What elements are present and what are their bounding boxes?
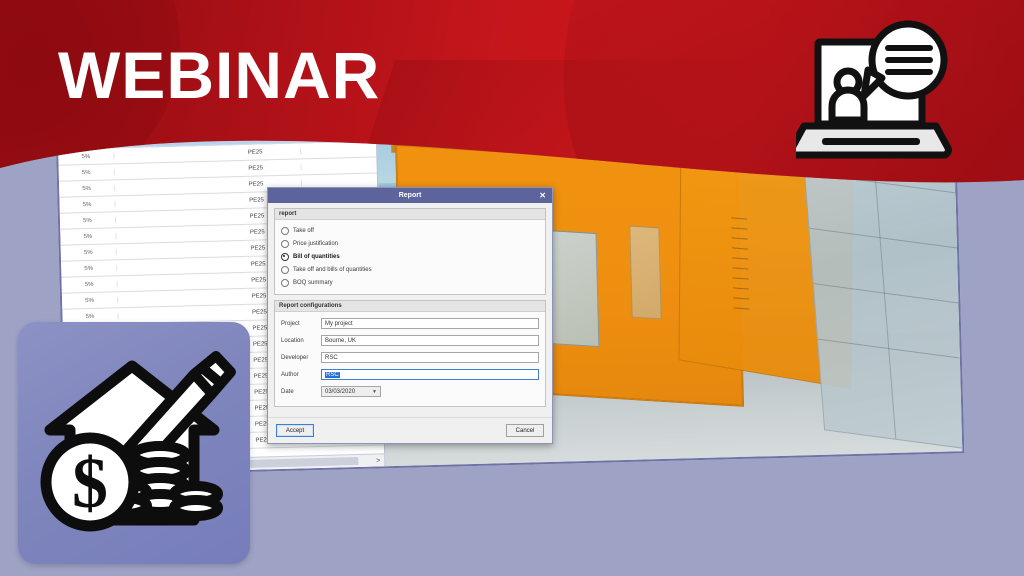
report-type-radio[interactable]: Bill of quantities (281, 250, 539, 263)
svg-text:$: $ (72, 443, 108, 523)
building-window (629, 226, 661, 320)
radio-label: Bill of quantities (293, 254, 340, 260)
dialog-title-text: Report (399, 192, 422, 199)
radio-icon[interactable] (281, 266, 289, 274)
cell-percent: 5% (59, 201, 115, 208)
cell-blank (302, 165, 377, 167)
cell-blank (116, 201, 212, 204)
laptop-presentation-icon (796, 16, 956, 164)
text-input-author[interactable]: RSC (321, 369, 539, 380)
radio-label: BOQ summary (293, 280, 333, 286)
field-label: Location (281, 338, 321, 344)
report-type-radio[interactable]: Take off and bills of quantities (281, 263, 539, 276)
report-dialog[interactable]: Report ✕ report Take offPrice justificat… (267, 187, 553, 444)
accept-button[interactable]: Accept (276, 424, 314, 437)
cancel-button[interactable]: Cancel (506, 424, 544, 437)
cell-percent: 5% (59, 185, 115, 192)
dialog-title-bar: Report ✕ (268, 188, 552, 203)
cell-percent: 5% (62, 297, 118, 304)
cell-blank (115, 185, 211, 188)
form-row: DeveloperRSC (281, 350, 539, 365)
cell-percent: 5% (59, 169, 115, 176)
cell-percent: 5% (60, 233, 116, 240)
cell-blank (301, 149, 376, 151)
cell-blank (118, 313, 214, 316)
building-ladder-detail (731, 211, 750, 322)
dialog-footer: Accept Cancel (268, 417, 552, 443)
cell-percent: 5% (60, 217, 116, 224)
form-row: LocationBourne, UK (281, 333, 539, 348)
cell-percent: 5% (61, 265, 117, 272)
cell-code: PE25 (210, 148, 301, 156)
cell-blank (302, 181, 377, 183)
report-type-group-header: report (275, 209, 545, 220)
report-type-radio[interactable]: Take off (281, 224, 539, 237)
report-type-group: report Take offPrice justificationBill o… (274, 208, 546, 295)
cell-blank (115, 169, 211, 172)
radio-icon[interactable] (281, 253, 289, 261)
cell-percent: 5% (62, 281, 118, 288)
field-label: Project (281, 321, 321, 327)
form-row: Date03/03/2020▼ (281, 384, 539, 399)
field-label: Author (281, 372, 321, 378)
text-input-project[interactable]: My project (321, 318, 539, 329)
cell-blank (116, 217, 212, 220)
report-configurations-group-header: Report configurations (275, 301, 545, 312)
cell-code: PE25 (211, 164, 302, 172)
house-pencil-money-icon: $ (18, 322, 250, 564)
page-title: WEBINAR (58, 40, 380, 110)
cell-blank (116, 233, 212, 236)
radio-icon[interactable] (281, 240, 289, 248)
cell-blank (118, 297, 214, 300)
scroll-right-arrow-icon[interactable]: > (376, 457, 380, 464)
field-label: Developer (281, 355, 321, 361)
form-row: ProjectMy project (281, 316, 539, 331)
radio-label: Price justification (293, 241, 338, 247)
date-value: 03/03/2020 (325, 389, 355, 395)
report-configurations-fields[interactable]: ProjectMy projectLocationBourne, UKDevel… (275, 312, 545, 406)
radio-icon[interactable] (281, 227, 289, 235)
radio-icon[interactable] (281, 279, 289, 287)
cell-blank (118, 281, 214, 284)
chevron-down-icon[interactable]: ▼ (372, 389, 377, 395)
report-type-radio[interactable]: Price justification (281, 237, 539, 250)
text-input-developer[interactable]: RSC (321, 352, 539, 363)
cell-blank (117, 249, 213, 252)
text-input-location[interactable]: Bourne, UK (321, 335, 539, 346)
report-configurations-group: Report configurations ProjectMy projectL… (274, 300, 546, 407)
webinar-promo-image: 5%PE255%PE255%PE255%PE255%PE255%PE255%PE… (0, 0, 1024, 576)
date-picker[interactable]: 03/03/2020▼ (321, 386, 381, 397)
report-type-radio-list[interactable]: Take offPrice justificationBill of quant… (275, 220, 545, 294)
report-type-radio[interactable]: BOQ summary (281, 276, 539, 289)
cell-percent: 5% (62, 313, 118, 320)
close-icon[interactable]: ✕ (539, 190, 546, 201)
selected-text: RSC (325, 372, 340, 378)
cell-percent: 5% (61, 249, 117, 256)
radio-label: Take off (293, 228, 314, 234)
cell-blank (114, 153, 210, 156)
field-label: Date (281, 389, 321, 395)
form-row: AuthorRSC (281, 367, 539, 382)
cell-blank (117, 265, 213, 268)
radio-label: Take off and bills of quantities (293, 267, 372, 273)
